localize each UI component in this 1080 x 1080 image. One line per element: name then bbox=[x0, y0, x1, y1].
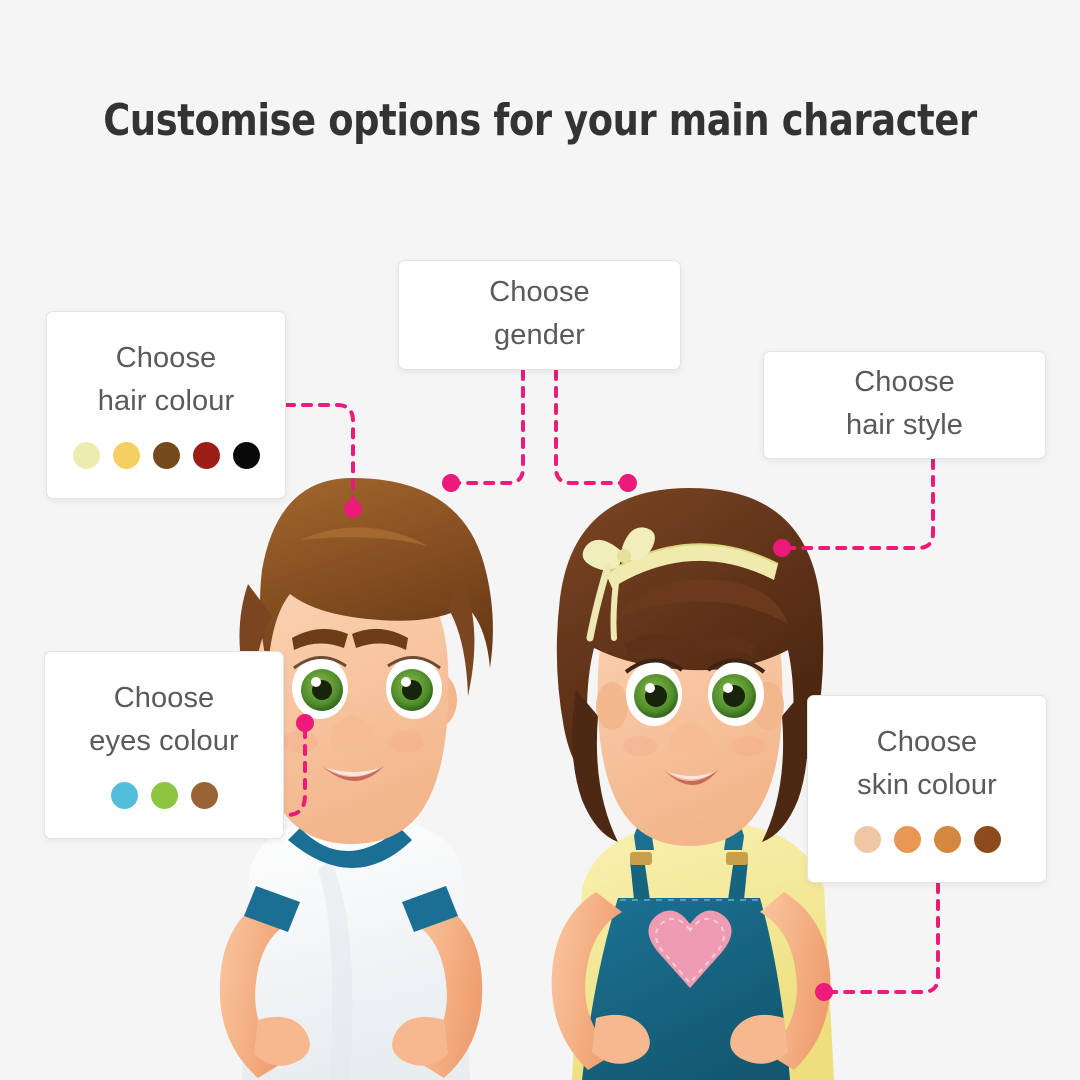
page-title: Customise options for your main characte… bbox=[38, 95, 1042, 146]
eyes-colour-swatches[interactable] bbox=[111, 782, 218, 809]
swatch-hair-black[interactable] bbox=[233, 442, 260, 469]
character-girl bbox=[552, 488, 834, 1080]
swatch-skin-fair[interactable] bbox=[854, 826, 881, 853]
character-illustration bbox=[0, 0, 1080, 1080]
swatch-hair-blonde-golden[interactable] bbox=[113, 442, 140, 469]
card-gender[interactable]: Choose gender bbox=[398, 260, 681, 370]
swatch-eyes-blue[interactable] bbox=[111, 782, 138, 809]
card-gender-label: Choose gender bbox=[489, 271, 590, 357]
swatch-hair-blonde-pale[interactable] bbox=[73, 442, 100, 469]
card-hair-colour-label: Choose hair colour bbox=[98, 337, 235, 423]
swatch-eyes-green[interactable] bbox=[151, 782, 178, 809]
customiser-screen: Customise options for your main characte… bbox=[0, 0, 1080, 1080]
skin-colour-swatches[interactable] bbox=[854, 826, 1001, 853]
card-eyes-colour[interactable]: Choose eyes colour bbox=[44, 651, 284, 839]
card-hair-style-label: Choose hair style bbox=[846, 361, 963, 447]
card-skin-colour-label: Choose skin colour bbox=[857, 721, 997, 807]
hair-colour-swatches[interactable] bbox=[73, 442, 260, 469]
card-skin-colour[interactable]: Choose skin colour bbox=[807, 695, 1047, 883]
swatch-hair-brown[interactable] bbox=[153, 442, 180, 469]
card-eyes-colour-label: Choose eyes colour bbox=[89, 677, 238, 763]
swatch-hair-red-dark[interactable] bbox=[193, 442, 220, 469]
card-hair-style[interactable]: Choose hair style bbox=[763, 351, 1046, 459]
swatch-skin-light[interactable] bbox=[894, 826, 921, 853]
swatch-skin-dark[interactable] bbox=[974, 826, 1001, 853]
swatch-eyes-brown[interactable] bbox=[191, 782, 218, 809]
swatch-skin-medium[interactable] bbox=[934, 826, 961, 853]
card-hair-colour[interactable]: Choose hair colour bbox=[46, 311, 286, 499]
